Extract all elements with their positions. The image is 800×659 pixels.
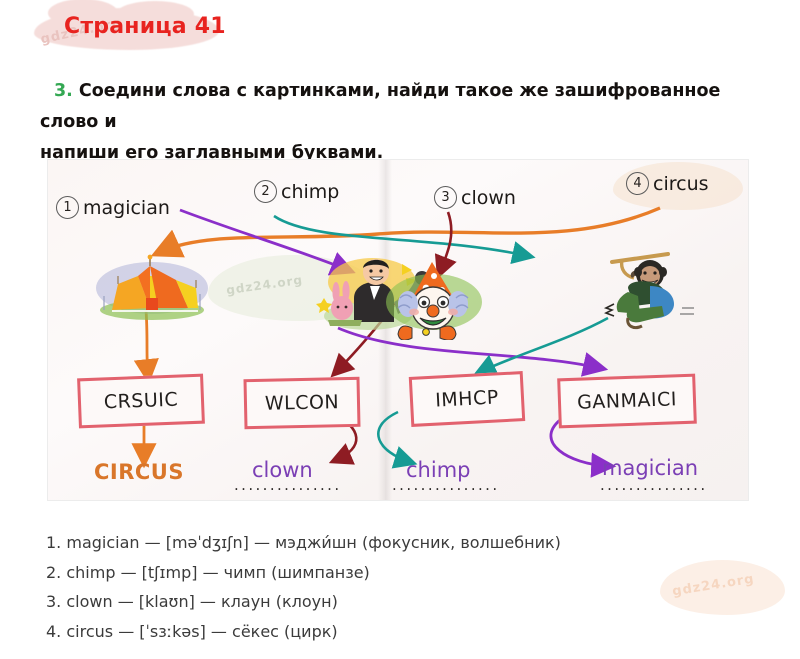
task-number: 3. xyxy=(54,81,73,101)
word-tag-magician[interactable]: 1 magician xyxy=(56,196,170,219)
exercise-illustration: gdz24.org xyxy=(48,160,748,500)
number-circle-1: 1 xyxy=(56,196,79,219)
vocab-row-magician: 1. magician — [məˈdʒɪʃn] — мэджи́шн (фок… xyxy=(46,528,746,558)
word-tag-circus[interactable]: 4 circus xyxy=(626,172,709,195)
vocab-word-4: circus xyxy=(66,622,113,641)
vocab-row-circus: 4. circus — [ˈsɜːkəs] — сёкес (цирк) xyxy=(46,617,746,647)
vocab-ipa-1: [məˈdʒɪʃn] xyxy=(166,533,249,552)
instruction-text: 3. Соедини слова с картинками, найди так… xyxy=(40,76,770,169)
answer-dots-clown: ............... xyxy=(234,476,342,494)
vocab-ipa-3: [klaʊn] xyxy=(139,592,195,611)
page-title: Страница 41 xyxy=(64,14,226,39)
vocab-num-2: 2. xyxy=(46,563,61,582)
vocab-num-4: 4. xyxy=(46,622,61,641)
vocab-word-2: chimp xyxy=(66,563,115,582)
vocabulary-list: 1. magician — [məˈdʒɪʃn] — мэджи́шн (фок… xyxy=(46,528,746,646)
answer-circus: CIRCUS xyxy=(94,460,184,484)
word-label-magician: magician xyxy=(83,197,170,219)
scrambled-box-imhcp[interactable]: IMHCP xyxy=(409,371,525,427)
picture-clown-face xyxy=(378,256,494,340)
vocab-ru-1: мэджи́шн (фокусник, волшебник) xyxy=(275,533,561,552)
vocab-ipa-2: [tʃɪmp] xyxy=(142,563,198,582)
vocab-row-clown: 3. clown — [klaʊn] — клаун (клоун) xyxy=(46,587,746,617)
vocab-num-1: 1. xyxy=(46,533,61,552)
answer-dots-chimp: ............... xyxy=(392,476,500,494)
scrambled-box-ganmaici[interactable]: GANMAICI xyxy=(557,374,697,429)
vocab-ipa-4: [ˈsɜːkəs] xyxy=(139,622,206,641)
vocab-ru-2: чимп (шимпанзе) xyxy=(224,563,370,582)
vocab-ru-4: сёкес (цирк) xyxy=(232,622,338,641)
picture-chimp xyxy=(584,252,704,332)
number-circle-3: 3 xyxy=(434,186,457,209)
arrow-imhcp-to-chimp xyxy=(378,412,410,462)
word-tag-chimp[interactable]: 2 chimp xyxy=(254,180,339,203)
scrambled-box-crsuic[interactable]: CRSUIC xyxy=(77,374,205,429)
vocab-word-1: magician xyxy=(66,533,139,552)
vocab-word-3: clown xyxy=(66,592,112,611)
vocab-ru-3: клаун (клоун) xyxy=(221,592,338,611)
instruction-line-1: Соедини слова с картинками, найди такое … xyxy=(40,81,720,132)
word-tag-clown[interactable]: 3 clown xyxy=(434,186,516,209)
page-header: gdz24.org Страница 41 xyxy=(34,6,244,54)
vocab-num-3: 3. xyxy=(46,592,61,611)
number-circle-2: 2 xyxy=(254,180,277,203)
vocab-row-chimp: 2. chimp — [tʃɪmp] — чимп (шимпанзе) xyxy=(46,558,746,588)
answer-dots-magician: ............... xyxy=(600,476,708,494)
word-label-circus: circus xyxy=(653,173,709,195)
word-label-chimp: chimp xyxy=(281,181,339,203)
word-label-clown: clown xyxy=(461,187,516,209)
scrambled-box-wlcon[interactable]: WLCON xyxy=(243,377,360,429)
number-circle-4: 4 xyxy=(626,172,649,195)
picture-circus-tent xyxy=(92,254,212,320)
